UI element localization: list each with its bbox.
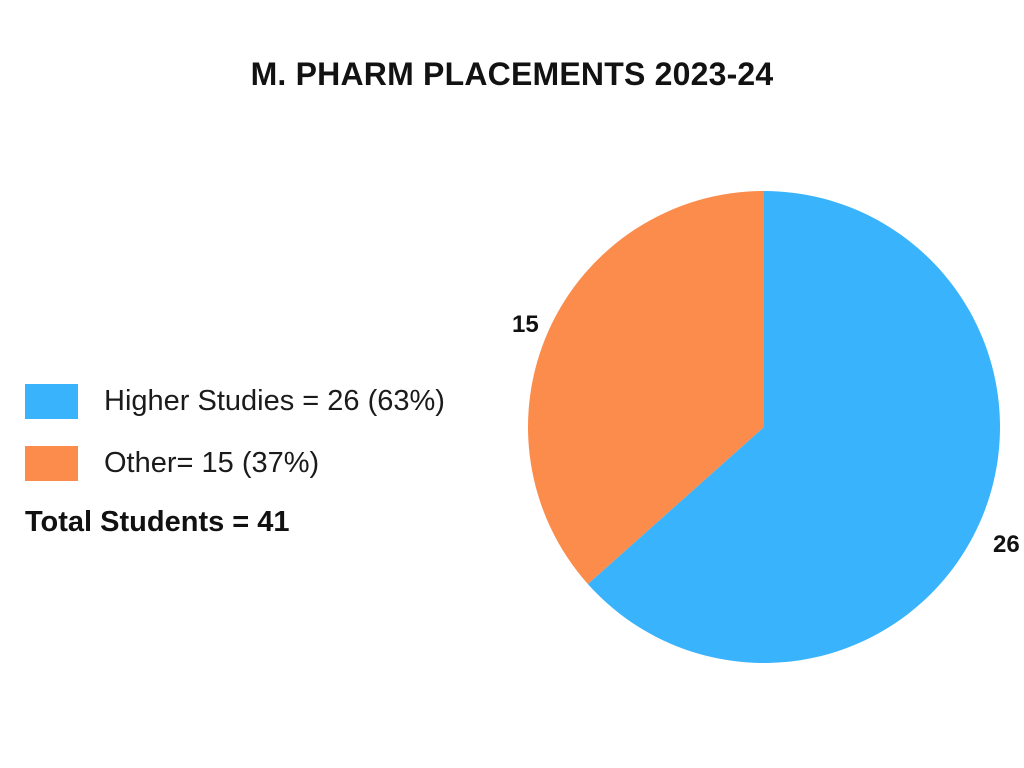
pie-data-label-other: 15 xyxy=(512,313,539,337)
legend-item-other: Other= 15 (37%) xyxy=(25,444,495,482)
legend-label-other: Other= 15 (37%) xyxy=(104,449,319,478)
legend-label-higher-studies: Higher Studies = 26 (63%) xyxy=(104,387,445,416)
page-title: M. PHARM PLACEMENTS 2023-24 xyxy=(0,56,1024,93)
legend-item-higher-studies: Higher Studies = 26 (63%) xyxy=(25,382,495,420)
pie-chart: 26 15 xyxy=(490,165,1024,689)
legend-swatch-higher-studies xyxy=(25,384,78,419)
pie-chart-svg xyxy=(490,165,1024,689)
legend-swatch-other xyxy=(25,446,78,481)
chart-legend: Higher Studies = 26 (63%) Other= 15 (37%… xyxy=(25,382,495,539)
pie-data-label-higher-studies: 26 xyxy=(993,533,1020,557)
total-students-label: Total Students = 41 xyxy=(25,506,495,539)
pie-slice-group xyxy=(528,191,1000,663)
